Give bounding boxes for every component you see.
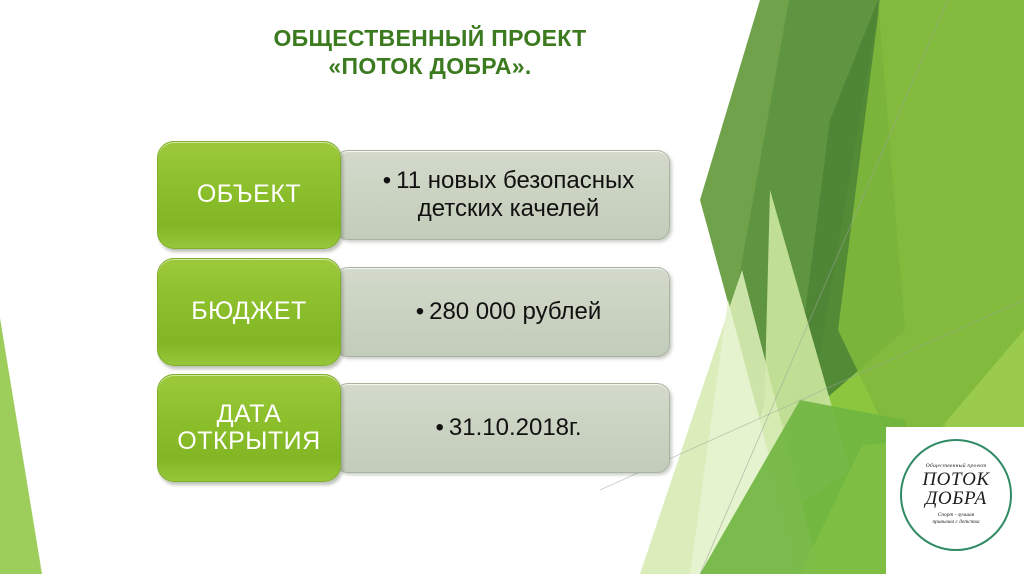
row-content-wrapper: •31.10.2018г.: [435, 414, 581, 442]
logo-name-line-2: ДОБРА: [925, 490, 987, 508]
decor-shape-dark-wedge-2: [735, 0, 880, 470]
row-content-wrapper: •11 новых безопасных детских качелей: [362, 167, 655, 224]
decor-shape-pale-1: [700, 190, 850, 574]
logo-name-line-1: ПОТОК: [922, 471, 989, 489]
row-label-opening-date[interactable]: ДАТА ОТКРЫТИЯ: [157, 374, 341, 482]
title-line-1: ОБЩЕСТВЕННЫЙ ПРОЕКТ: [150, 24, 710, 52]
decor-shape-dark-wedge: [700, 0, 880, 420]
row-content-object[interactable]: •11 новых безопасных детских качелей: [335, 150, 670, 240]
decor-shape-mid-green: [838, 0, 1024, 470]
decor-shape-left-triangle: [0, 318, 42, 574]
row-label-text: БЮДЖЕТ: [191, 298, 307, 326]
decor-shape-dark-wedge-3: [790, 0, 905, 430]
logo-tagline: Спорт - лучшая привычка с детства: [932, 512, 979, 527]
decor-shape-pale-3: [690, 300, 800, 574]
row-label-budget[interactable]: БЮДЖЕТ: [157, 258, 341, 366]
row-label-text: ДАТА ОТКРЫТИЯ: [177, 401, 320, 456]
logo-circle-icon: Общественный проект ПОТОК ДОБРА Спорт - …: [900, 439, 1012, 551]
bullet-icon: •: [416, 298, 424, 325]
row-content-budget[interactable]: •280 000 рублей: [335, 267, 670, 357]
row-content-wrapper: •280 000 рублей: [416, 298, 602, 326]
bullet-icon: •: [435, 414, 443, 441]
bullet-icon: •: [383, 167, 391, 194]
row-content-text: 31.10.2018г.: [449, 414, 582, 441]
row-content-text: 280 000 рублей: [429, 298, 601, 325]
title-line-2: «ПОТОК ДОБРА».: [150, 52, 710, 80]
row-label-object[interactable]: ОБЪЕКТ: [157, 141, 341, 249]
page-title: ОБЩЕСТВЕННЫЙ ПРОЕКТ «ПОТОК ДОБРА».: [150, 24, 710, 80]
row-content-text: 11 новых безопасных детских качелей: [396, 167, 634, 222]
logo: Общественный проект ПОТОК ДОБРА Спорт - …: [886, 427, 1024, 574]
row-label-text: ОБЪЕКТ: [197, 181, 301, 209]
slide-canvas: ОБЩЕСТВЕННЫЙ ПРОЕКТ «ПОТОК ДОБРА». ОБЪЕК…: [0, 0, 1024, 574]
row-content-opening-date[interactable]: •31.10.2018г.: [335, 383, 670, 473]
